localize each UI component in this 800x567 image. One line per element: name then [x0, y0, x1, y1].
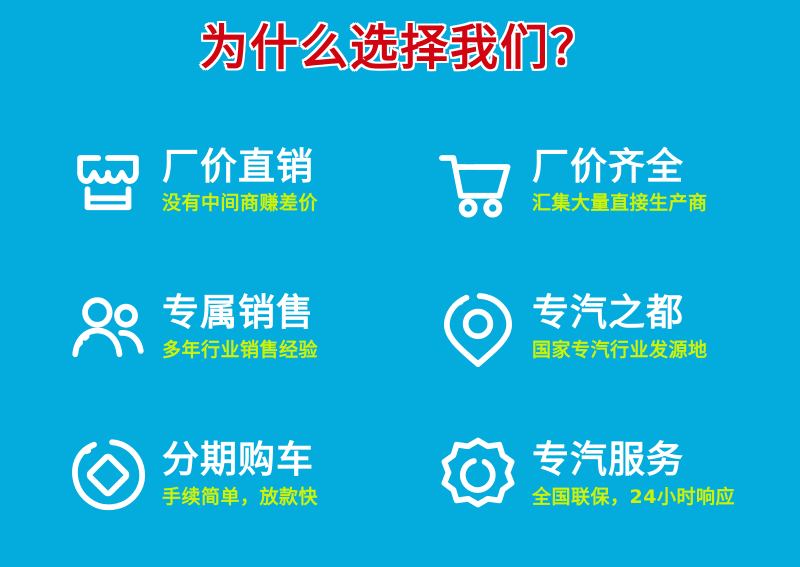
- feature-subtitle: 国家专汽行业发源地: [532, 338, 708, 364]
- features-grid: 厂价直销 没有中间商赚差价 厂价齐全 汇集大量直接生产商: [0, 108, 800, 548]
- feature-item-special-vehicle-city: 专汽之都 国家专汽行业发源地: [380, 255, 800, 402]
- feature-title: 专属销售: [162, 292, 318, 333]
- storefront-icon: [62, 135, 154, 227]
- location-pin-icon: [432, 282, 524, 374]
- feature-subtitle: 全国联保，24小时响应: [532, 485, 735, 511]
- feature-title: 厂价直销: [162, 146, 318, 187]
- feature-text-block: 厂价齐全 汇集大量直接生产商: [532, 146, 708, 217]
- feature-text-block: 分期购车 手续简单，放款快: [162, 439, 318, 510]
- feature-item-full-range: 厂价齐全 汇集大量直接生产商: [380, 108, 800, 255]
- two-people-icon: [62, 282, 154, 374]
- feature-text-block: 专属销售 多年行业销售经验: [162, 292, 318, 363]
- feature-title: 专汽服务: [532, 439, 735, 480]
- page-title-wrapper: 为什么选择我们？: [0, 22, 800, 75]
- feature-subtitle: 手续简单，放款快: [162, 485, 318, 511]
- feature-item-installment-purchase: 分期购车 手续简单，放款快: [0, 401, 380, 548]
- feature-title: 厂价齐全: [532, 146, 708, 187]
- gear-icon: [432, 429, 524, 521]
- feature-text-block: 专汽服务 全国联保，24小时响应: [532, 439, 735, 510]
- feature-item-special-vehicle-service: 专汽服务 全国联保，24小时响应: [380, 401, 800, 548]
- feature-text-block: 厂价直销 没有中间商赚差价: [162, 146, 318, 217]
- feature-title: 分期购车: [162, 439, 318, 480]
- feature-item-factory-direct-sales: 厂价直销 没有中间商赚差价: [0, 108, 380, 255]
- feature-subtitle: 汇集大量直接生产商: [532, 191, 708, 217]
- feature-text-block: 专汽之都 国家专汽行业发源地: [532, 292, 708, 363]
- feature-subtitle: 多年行业销售经验: [162, 338, 318, 364]
- feature-item-dedicated-sales: 专属销售 多年行业销售经验: [0, 255, 380, 402]
- shopping-cart-icon: [432, 135, 524, 227]
- feature-title: 专汽之都: [532, 292, 708, 333]
- page-title: 为什么选择我们？: [200, 22, 600, 75]
- circle-diamond-icon: [62, 429, 154, 521]
- promo-banner: 为什么选择我们？ 厂价直销 没有中间商赚差价: [0, 0, 800, 567]
- feature-subtitle: 没有中间商赚差价: [162, 191, 318, 217]
